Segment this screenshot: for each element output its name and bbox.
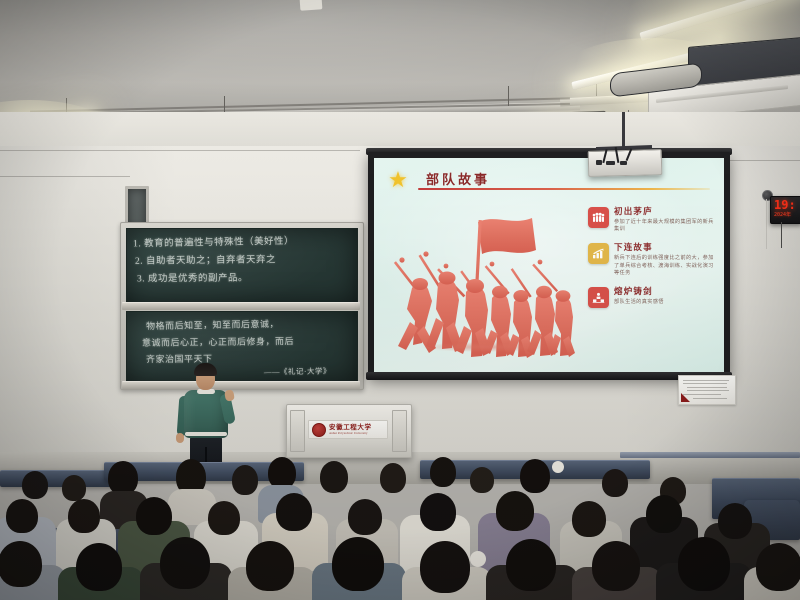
slide-bullet-list: 初出茅庐 参加了近十年来最大规模的集团军的新兵集训 下连故事 新兵下连 [588,206,716,317]
sensor-wire [766,199,767,249]
audience-head [430,457,456,487]
wall-seam-left-2 [0,176,130,177]
soldiers-flag-artwork [392,210,580,358]
blackboard-line-4: 物格而后知至，知至而后意诚， [146,317,279,332]
led-wall-clock: 19: 2024年 [770,196,800,224]
bar-chart-growth-icon [588,243,609,264]
audience-head [108,461,138,495]
audience-head [0,541,42,587]
star-icon: ★ [388,170,408,190]
audience-head [572,501,606,537]
group-people-icon [588,207,609,228]
artwork-ground-shadow [396,340,574,354]
audience-head [22,471,48,499]
blackboard-line-5: 意诚而后心正，心正而后修身，而后 [142,334,294,349]
audience-head [602,469,628,497]
clock-wire [781,222,782,248]
speaker-hair [194,363,217,376]
blackboard-citation: ——《礼记·大学》 [264,365,331,377]
slide-title: 部队故事 [426,169,490,188]
projector-port-3 [620,161,627,165]
audience-head [232,465,258,495]
chalk-ledge-upper [122,302,360,310]
bullet-desc-2: 新兵下连后的训练强度比之前的大，参加了单兵综合考核、渡海训练、实战化演习等任务 [614,255,716,277]
ceiling-fixture-plate [300,0,323,11]
blackboard-line-3: 3. 成功是优秀的副产品。 [137,270,248,285]
audience-head [160,537,210,589]
clock-time: 19: [774,199,796,212]
bullet-item-1: 初出茅庐 参加了近十年来最大规模的集团军的新兵集训 [588,206,716,233]
poster-red-triangle-icon [681,393,690,402]
forge-podium-icon [588,287,609,308]
university-name-en: Anhui Polytechnic University [329,431,372,435]
slide-title-underline [418,188,710,190]
wall-seam-left [0,150,360,151]
audience-head [678,537,730,591]
audience-head [592,541,640,591]
audience-head [470,467,494,493]
audience-head [420,541,470,593]
audience-head [756,543,800,591]
bullet-item-3: 熔炉铸剑 部队生活的真实感悟 [588,286,716,308]
bullet-item-2: 下连故事 新兵下连后的训练强度比之前的大，参加了单兵综合考核、渡海训练、实战化演… [588,242,716,277]
university-name: 安徽工程大学 [329,424,372,431]
audience-head [496,491,534,531]
speaker-left-hand [176,433,184,443]
audience-head [208,501,240,535]
upper-wall-band [0,112,800,149]
audience-head [332,537,384,591]
cable-hanger-2 [224,96,225,112]
projector-port-2 [606,161,615,165]
audience-head [246,541,294,591]
audience-head [320,461,348,493]
university-seal-icon [312,423,326,437]
student-audience [0,455,800,600]
slide-content: ★ 部队故事 [374,158,724,372]
podium-nameplate: 安徽工程大学 Anhui Polytechnic University [308,420,388,439]
bullet-heading-1: 初出茅庐 [614,206,716,217]
audience-head [718,503,752,539]
hair-scrunchie [552,461,564,473]
audience-head [506,539,556,591]
bullet-desc-1: 参加了近十年来最大规模的集团军的新兵集训 [614,219,716,233]
podium-side-left [290,410,305,452]
wall-notice-poster [678,375,736,405]
bullet-heading-2: 下连故事 [614,242,716,253]
speaker-shirt-hem [185,432,227,436]
hair-scrunchie [470,551,486,567]
podium-side-right [392,410,407,452]
audience-head [136,497,172,535]
audience-head [62,475,86,501]
audience-head [68,499,100,533]
audience-head [348,499,382,535]
projector-mount-arm [622,112,625,150]
blackboard-line-1: 1. 教育的普遍性与特殊性（美好性） [133,233,294,250]
bullet-heading-3: 熔炉铸剑 [614,286,716,297]
blackboard-line-2: 2. 自助者天助之；自弃者天弃之 [135,251,276,266]
cable-hanger-3 [508,86,509,106]
classroom-photo: 1. 教育的普遍性与特殊性（美好性） 2. 自助者天助之；自弃者天弃之 3. 成… [0,0,800,600]
clock-date: 2024年 [774,212,791,219]
audience-head [380,463,406,493]
audience-head [520,459,550,493]
audience-head [646,495,682,533]
audience-head [76,543,122,591]
audience-head [420,493,456,531]
projector-port-1 [596,160,602,165]
audience-head [6,499,38,533]
audience-head [276,493,312,531]
chalk-ledge-lower [122,381,360,389]
bullet-desc-3: 部队生活的真实感悟 [614,299,716,306]
